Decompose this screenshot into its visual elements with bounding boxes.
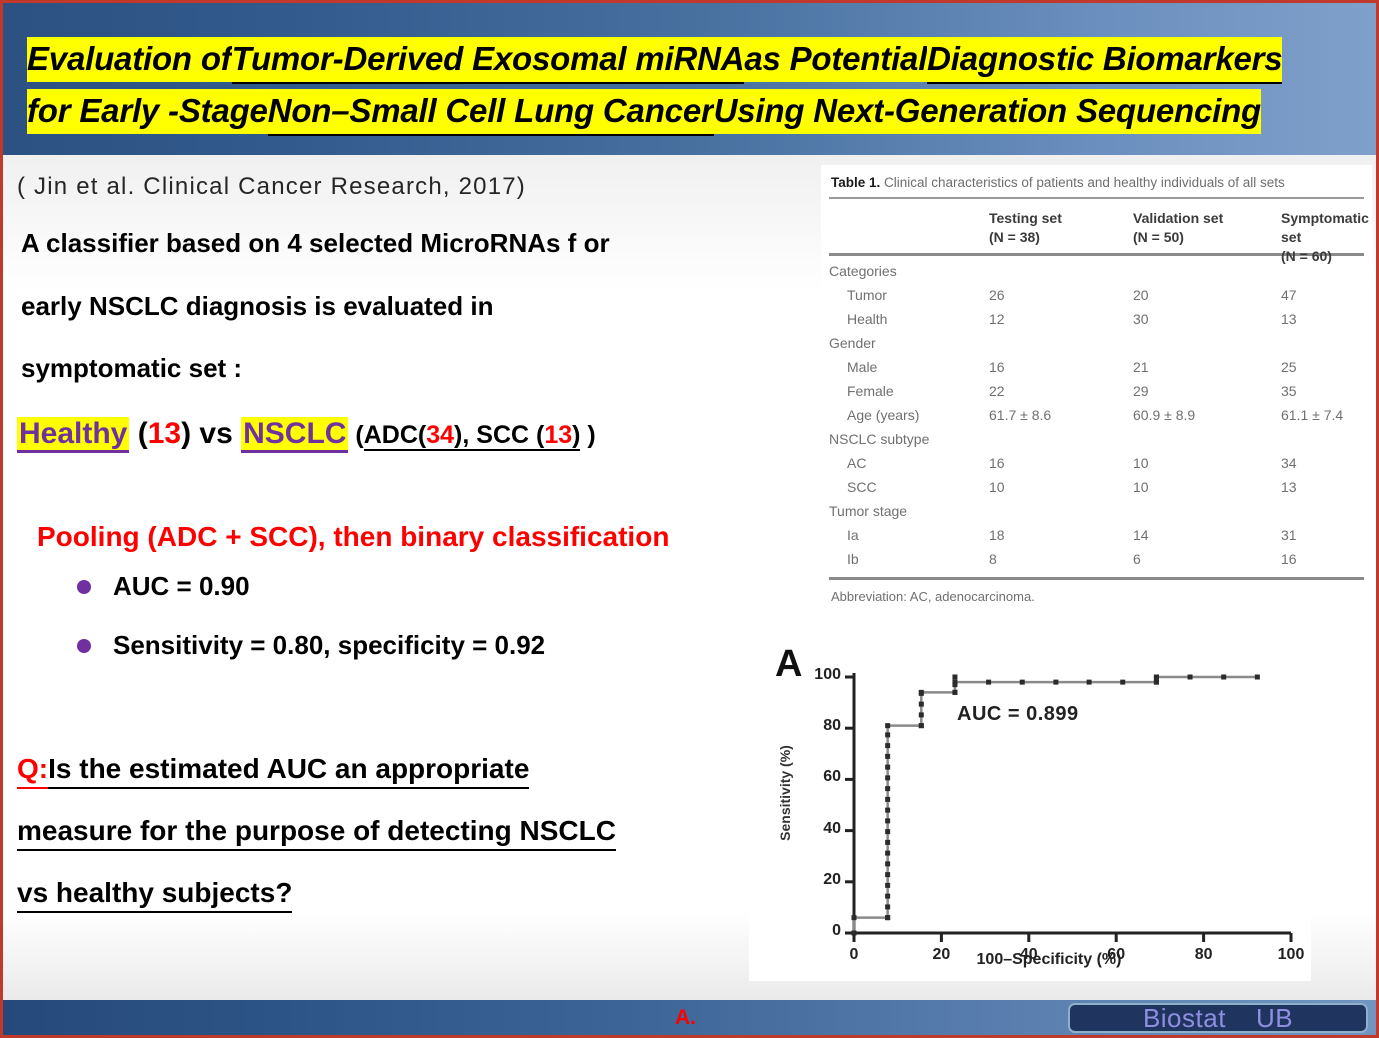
table-cell: 18 bbox=[989, 527, 1005, 543]
title-segment-using-next: Using Next bbox=[714, 89, 884, 134]
roc-plot-area bbox=[749, 635, 1311, 981]
column-header-symptomatic-set: Symptomatic set (N = 60) bbox=[1281, 209, 1372, 266]
table-caption: Table 1. Clinical characteristics of pat… bbox=[831, 175, 1285, 190]
table-row-label: Ia bbox=[847, 527, 859, 543]
table-caption-label: Table 1. bbox=[831, 175, 880, 190]
nsclc-group-label: NSCLC bbox=[241, 417, 348, 453]
table-cell: 10 bbox=[1133, 479, 1149, 495]
table-cell: 10 bbox=[1133, 455, 1149, 471]
table-caption-text: Clinical characteristics of patients and… bbox=[880, 175, 1284, 190]
table-cell: 16 bbox=[989, 359, 1005, 375]
healthy-group-label: Healthy bbox=[17, 417, 129, 453]
pooling-heading: Pooling (ADC + SCC), then binary classif… bbox=[37, 521, 669, 553]
table-cell: 14 bbox=[1133, 527, 1149, 543]
table-cell: 16 bbox=[1281, 551, 1297, 567]
bullet-dot-icon bbox=[77, 639, 91, 653]
list-item: AUC = 0.90 bbox=[77, 571, 250, 602]
question-line-2: measure for the purpose of detecting NSC… bbox=[17, 815, 616, 851]
table-cell: 30 bbox=[1133, 311, 1149, 327]
healthy-open-paren: ( bbox=[129, 417, 147, 450]
title-segment-diagnostic-biomarkers: Diagnostic Biomarkers bbox=[927, 37, 1282, 84]
table-row-label: AC bbox=[847, 455, 866, 471]
column-header-testing-set: Testing set (N = 38) bbox=[989, 209, 1062, 247]
healthy-count: 13 bbox=[148, 417, 181, 450]
table-cell: 6 bbox=[1133, 551, 1141, 567]
slide-header: Evaluation ofTumor-Derived Exosomal miRN… bbox=[3, 3, 1376, 155]
slide-title-line-1: Evaluation ofTumor-Derived Exosomal miRN… bbox=[27, 37, 1282, 84]
column-header-validation-set: Validation set (N = 50) bbox=[1133, 209, 1223, 247]
claim-line-3: symptomatic set : bbox=[21, 353, 242, 384]
clinical-characteristics-table: Table 1. Clinical characteristics of pat… bbox=[821, 165, 1372, 625]
table-cell: 8 bbox=[989, 551, 997, 567]
question-line-3: vs healthy subjects? bbox=[17, 877, 616, 913]
scc-count: 13 bbox=[544, 421, 572, 451]
roc-curve-figure: A AUC = 0.899 Sensitivity (%) 100–Specif… bbox=[749, 635, 1311, 981]
title-segment-non-small-cell: Non–Small Cell Lung Cancer bbox=[268, 89, 714, 136]
nsclc-open-paren: ( bbox=[348, 421, 363, 449]
table-cell: 47 bbox=[1281, 287, 1297, 303]
brand-biostat: Biostat bbox=[1143, 1003, 1226, 1034]
question-line-1: Q: Is the estimated AUC an appropriate bbox=[17, 753, 616, 789]
table-cell: 13 bbox=[1281, 479, 1297, 495]
adc-count: 34 bbox=[426, 421, 454, 451]
table-rule-top bbox=[829, 197, 1364, 199]
table-cell: 10 bbox=[989, 479, 1005, 495]
table-row-label: NSCLC subtype bbox=[829, 431, 929, 447]
bullet-label-auc: AUC = 0.90 bbox=[113, 571, 250, 602]
table-row-label: Tumor stage bbox=[829, 503, 907, 519]
table-cell: 61.1 ± 7.4 bbox=[1281, 407, 1343, 423]
table-cell: 21 bbox=[1133, 359, 1149, 375]
table-row-label: Female bbox=[847, 383, 894, 399]
table-cell: 26 bbox=[989, 287, 1005, 303]
groups-tail-paren: ) bbox=[580, 421, 595, 449]
title-segment-generation-sequencing: -Generation Sequencing bbox=[884, 89, 1261, 134]
table-cell: 29 bbox=[1133, 383, 1149, 399]
bullet-label-sensitivity: Sensitivity = 0.80, specificity = 0.92 bbox=[113, 630, 545, 661]
table-row-label: Health bbox=[847, 311, 887, 327]
table-cell: 34 bbox=[1281, 455, 1297, 471]
table-cell: 31 bbox=[1281, 527, 1297, 543]
bullet-dot-icon bbox=[77, 580, 91, 594]
table-rule-bottom bbox=[829, 577, 1364, 580]
table-cell: 22 bbox=[989, 383, 1005, 399]
table-abbreviation: Abbreviation: AC, adenocarcinoma. bbox=[831, 589, 1035, 604]
adc-close-scc-label: ), SCC ( bbox=[454, 421, 544, 451]
question-line-2-text: measure for the purpose of detecting NSC… bbox=[17, 815, 616, 851]
table-row-label: Male bbox=[847, 359, 877, 375]
table-cell: 35 bbox=[1281, 383, 1297, 399]
adc-label: ADC( bbox=[364, 421, 427, 451]
table-cell: 61.7 ± 8.6 bbox=[989, 407, 1051, 423]
table-row-label: Ib bbox=[847, 551, 859, 567]
question-line-1-text: Is the estimated AUC an appropriate bbox=[48, 753, 529, 789]
table-cell: 16 bbox=[989, 455, 1005, 471]
table-cell: 13 bbox=[1281, 311, 1297, 327]
groups-comparison-line: Healthy (13) vs NSCLC (ADC(34), SCC (13)… bbox=[17, 417, 596, 451]
table-row-label: Gender bbox=[829, 335, 876, 351]
table-row-label: Categories bbox=[829, 263, 897, 279]
title-segment-as-potential: as Potential bbox=[744, 37, 927, 82]
slide-marker: A. bbox=[675, 1006, 696, 1030]
table-row-label: SCC bbox=[847, 479, 877, 495]
title-segment-evaluation-of: Evaluation of bbox=[27, 37, 232, 82]
list-item: Sensitivity = 0.80, specificity = 0.92 bbox=[77, 630, 545, 661]
slide-title-line-2: for Early -StageNon–Small Cell Lung Canc… bbox=[27, 89, 1261, 136]
title-segment-for-early-stage: for Early -Stage bbox=[27, 89, 268, 134]
brand-ub: UB bbox=[1256, 1003, 1293, 1034]
table-cell: 12 bbox=[989, 311, 1005, 327]
biostat-brand-box: Biostat UB bbox=[1068, 1003, 1368, 1033]
slide-footer: A. Biostat UB bbox=[3, 1000, 1376, 1035]
question-marker: Q: bbox=[17, 753, 48, 789]
question-block: Q: Is the estimated AUC an appropriate m… bbox=[17, 753, 616, 939]
healthy-close-paren: ) vs bbox=[181, 417, 241, 450]
claim-line-1: A classifier based on 4 selected MicroRN… bbox=[21, 228, 610, 259]
table-cell: 20 bbox=[1133, 287, 1149, 303]
table-cell: 60.9 ± 8.9 bbox=[1133, 407, 1195, 423]
table-row-label: Tumor bbox=[847, 287, 887, 303]
table-row-label: Age (years) bbox=[847, 407, 919, 423]
citation-text: ( Jin et al. Clinical Cancer Research, 2… bbox=[17, 173, 526, 201]
table-cell: 25 bbox=[1281, 359, 1297, 375]
slide-canvas: Evaluation ofTumor-Derived Exosomal miRN… bbox=[0, 0, 1379, 1038]
question-line-3-text: vs healthy subjects? bbox=[17, 877, 292, 913]
title-segment-tumor-derived: Tumor-Derived Exosomal miRNA bbox=[232, 37, 745, 84]
claim-line-2: early NSCLC diagnosis is evaluated in bbox=[21, 291, 493, 322]
